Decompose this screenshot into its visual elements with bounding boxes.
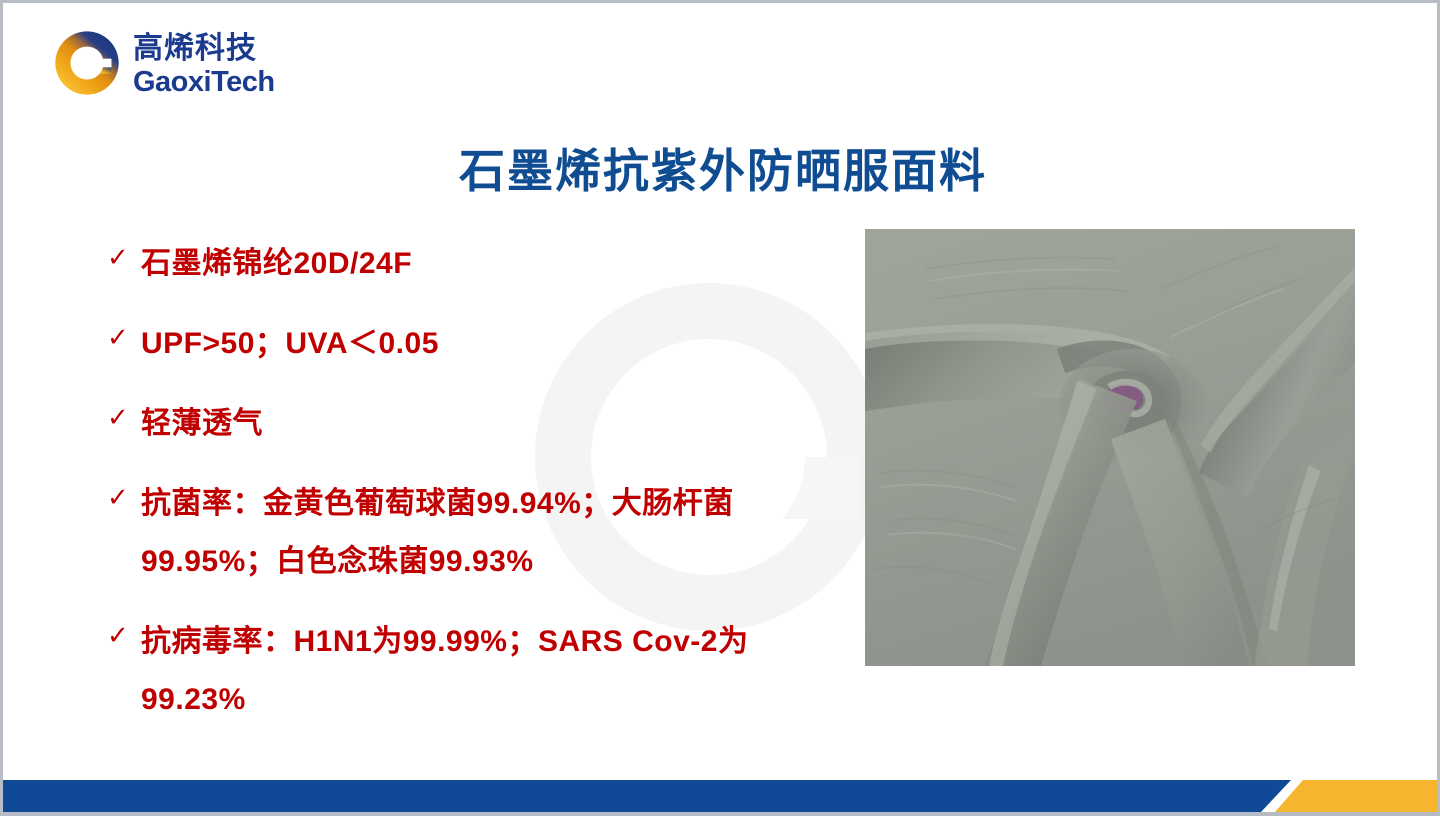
- list-item: ✓ UPF>50；UVA＜0.05: [107, 315, 847, 373]
- page-title: 石墨烯抗紫外防晒服面料: [3, 135, 1440, 201]
- brand-name-cn: 高烯科技: [133, 34, 275, 64]
- slide-canvas: 高烯科技 GaoxiTech 石墨烯抗紫外防晒服面料 ✓ 石墨烯锦纶20D/24…: [0, 0, 1440, 816]
- check-icon: ✓: [107, 475, 141, 519]
- fabric-photo: [865, 229, 1355, 666]
- gaoxi-g-logo-icon: [51, 27, 123, 99]
- list-item-label: 轻薄透气: [141, 395, 847, 453]
- check-icon: ✓: [107, 315, 141, 359]
- footer-decoration: [3, 776, 1440, 812]
- list-item: ✓ 抗病毒率：H1N1为99.99%；SARS Cov-2为99.23%: [107, 613, 847, 729]
- list-item-label: 石墨烯锦纶20D/24F: [141, 235, 847, 293]
- brand-name-en: GaoxiTech: [133, 68, 275, 97]
- check-icon: ✓: [107, 395, 141, 439]
- footer-blue-shape: [3, 780, 1291, 812]
- list-item-label: UPF>50；UVA＜0.05: [141, 315, 847, 373]
- brand-logo: 高烯科技 GaoxiTech: [51, 27, 275, 99]
- check-icon: ✓: [107, 235, 141, 279]
- check-icon: ✓: [107, 613, 141, 657]
- feature-list: ✓ 石墨烯锦纶20D/24F ✓ UPF>50；UVA＜0.05 ✓ 轻薄透气 …: [107, 235, 847, 729]
- list-item: ✓ 抗菌率：金黄色葡萄球菌99.94%；大肠杆菌99.95%；白色念珠菌99.9…: [107, 475, 847, 591]
- footer-yellow-shape: [1275, 780, 1440, 812]
- list-item: ✓ 轻薄透气: [107, 395, 847, 453]
- list-item: ✓ 石墨烯锦纶20D/24F: [107, 235, 847, 293]
- list-item-label: 抗菌率：金黄色葡萄球菌99.94%；大肠杆菌99.95%；白色念珠菌99.93%: [141, 475, 847, 591]
- list-item-label: 抗病毒率：H1N1为99.99%；SARS Cov-2为99.23%: [141, 613, 847, 729]
